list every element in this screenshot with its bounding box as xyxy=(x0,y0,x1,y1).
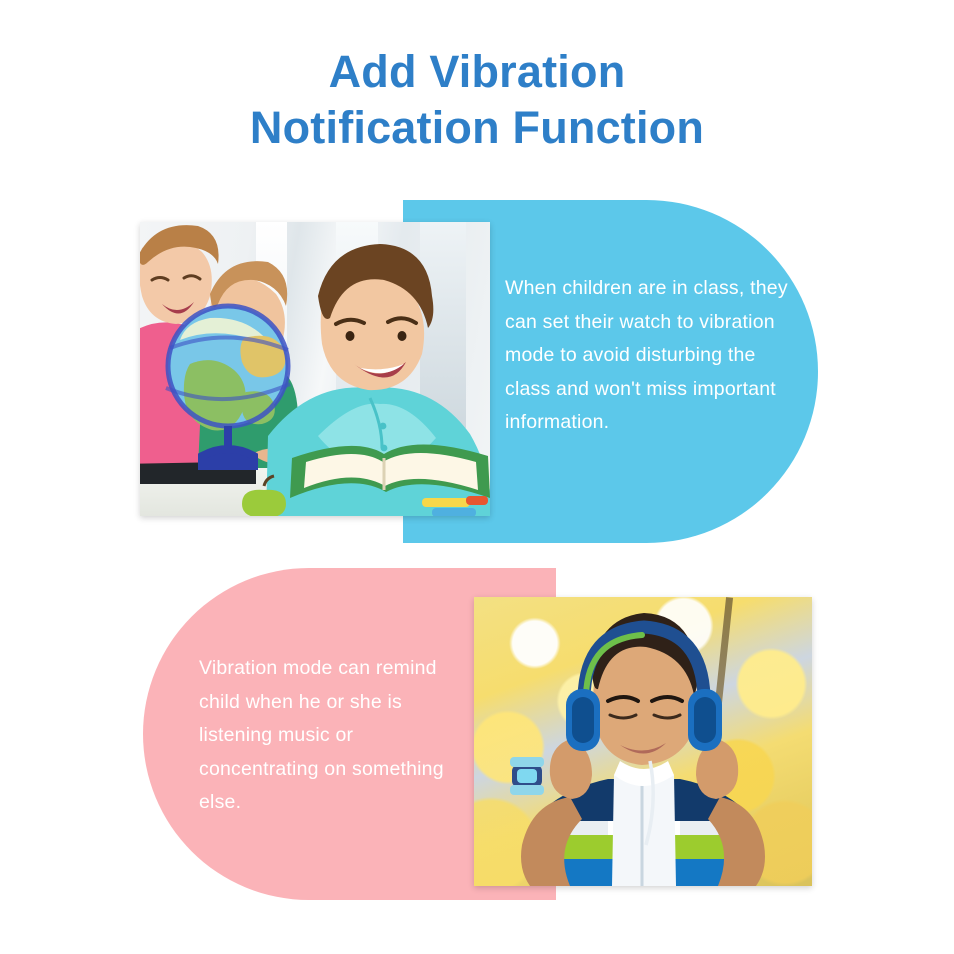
classroom-figures xyxy=(140,222,490,516)
blue-panel-text: When children are in class, they can set… xyxy=(505,272,795,440)
music-photo xyxy=(474,597,812,886)
page-title-line-2: Notification Function xyxy=(0,100,954,156)
page-title: Add Vibration Notification Function xyxy=(0,44,954,156)
music-boy-figure xyxy=(474,597,812,886)
page-title-line-1: Add Vibration xyxy=(0,44,954,100)
classroom-photo xyxy=(140,222,490,516)
pink-panel-text: Vibration mode can remind child when he … xyxy=(199,652,469,820)
product-feature-banner: Add Vibration Notification Function When… xyxy=(0,0,954,954)
classroom-photo-image xyxy=(140,222,490,516)
wrist-watch xyxy=(510,757,544,795)
music-photo-image xyxy=(474,597,812,886)
